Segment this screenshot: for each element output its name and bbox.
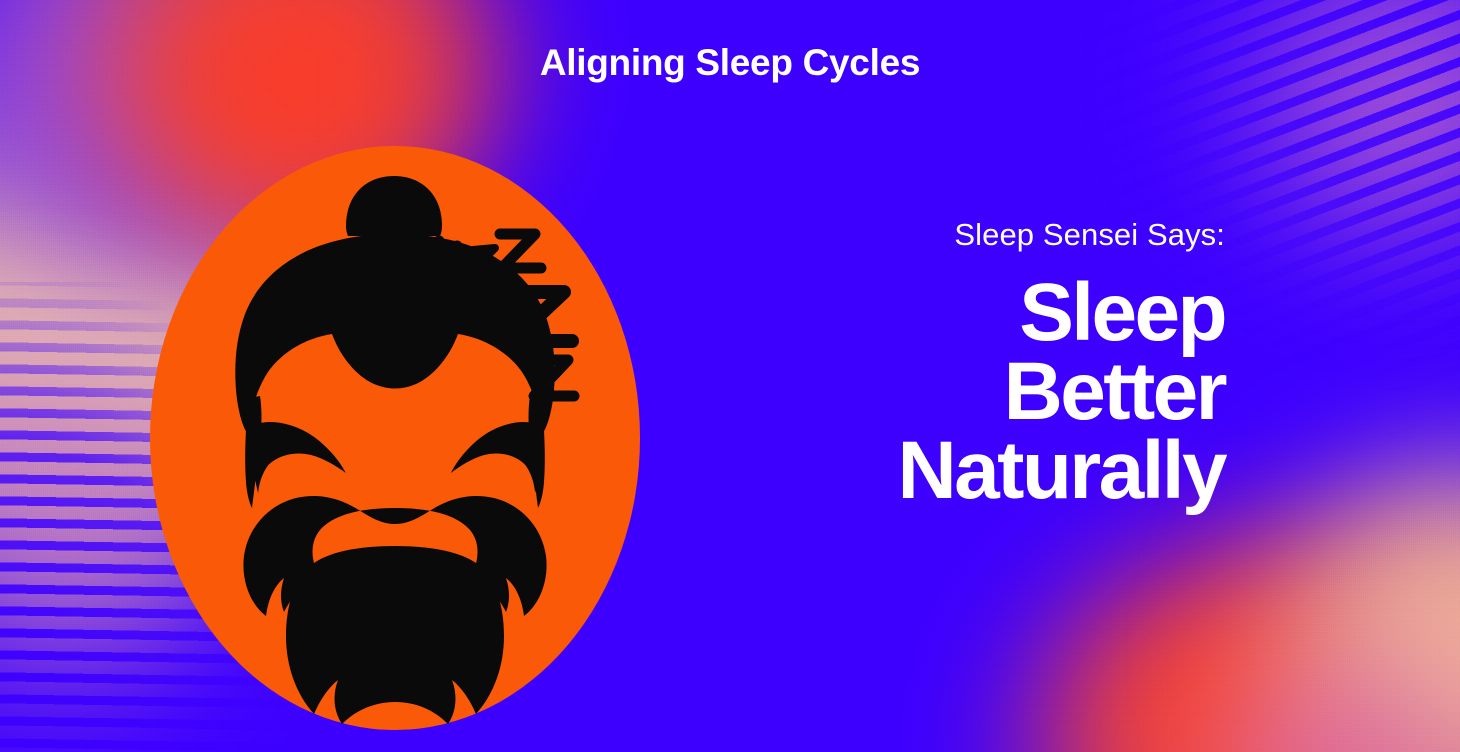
kicker-text: Sleep Sensei Says: <box>585 218 1225 252</box>
background-blob-pink-top <box>1200 0 1460 260</box>
beard-icon <box>286 546 504 724</box>
sleep-banner: Aligning Sleep Cycles <box>0 0 1460 752</box>
sleeping-sensei-face-illustration <box>150 138 640 738</box>
headline-line-3: Naturally <box>585 432 1225 511</box>
headline-line-1: Sleep <box>585 274 1225 353</box>
headline-text: Sleep Better Naturally <box>585 274 1225 510</box>
page-title: Aligning Sleep Cycles <box>0 42 1460 84</box>
headline-block: Sleep Sensei Says: Sleep Better Naturall… <box>585 218 1225 510</box>
headline-line-2: Better <box>585 353 1225 432</box>
